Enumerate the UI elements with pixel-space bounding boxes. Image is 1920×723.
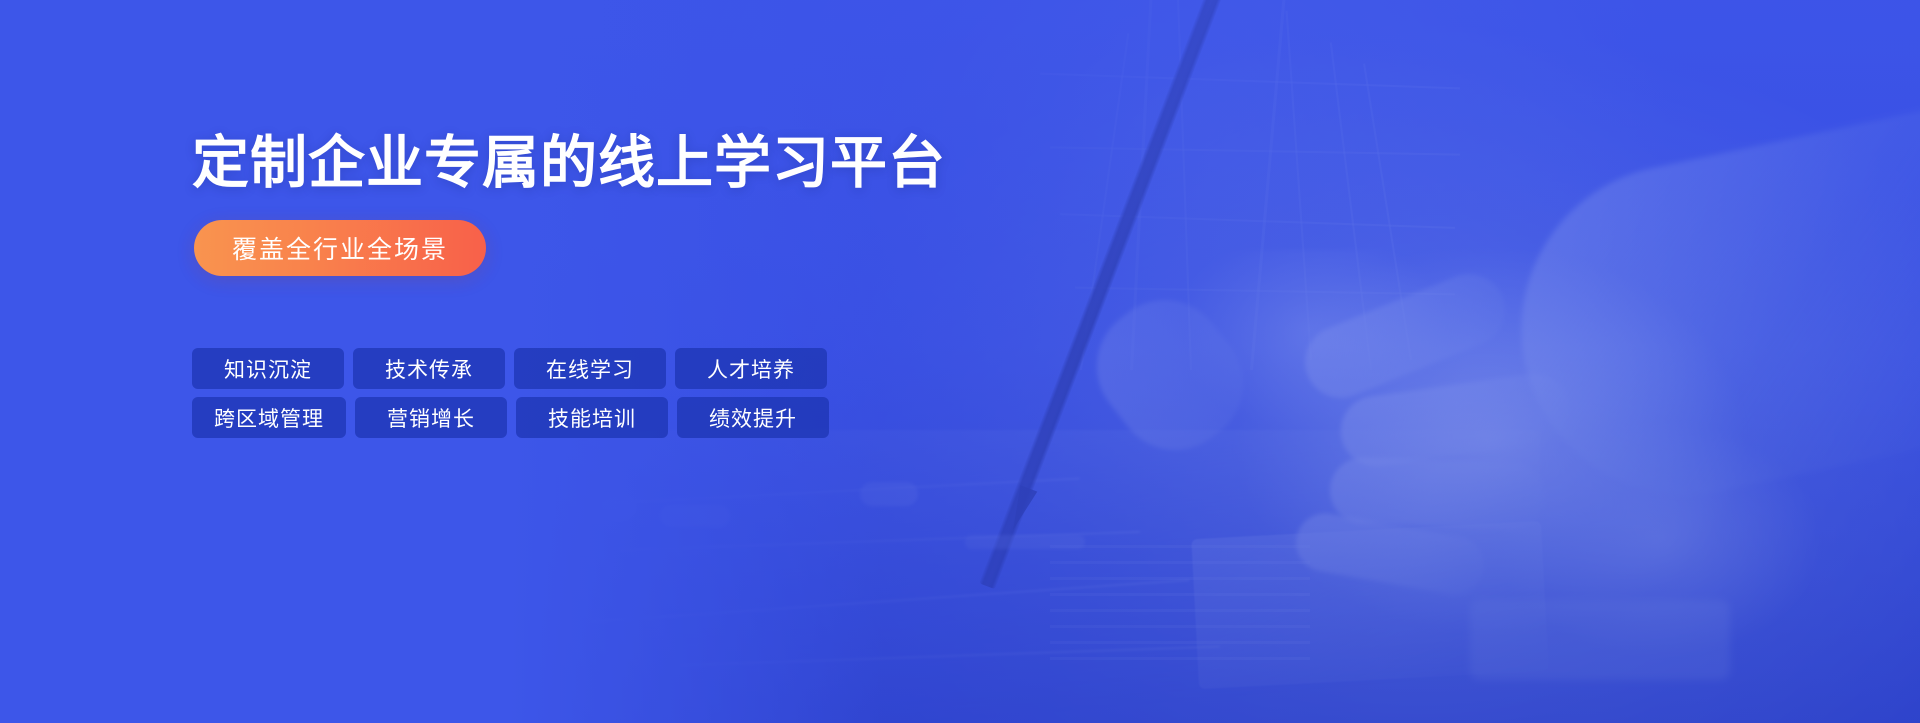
tag-row: 跨区域管理 营销增长 技能培训 绩效提升 [192, 397, 829, 438]
tag-grid: 知识沉淀 技术传承 在线学习 人才培养 跨区域管理 营销增长 技能培训 绩效提升 [192, 348, 829, 438]
tag-technology-inheritance[interactable]: 技术传承 [353, 348, 505, 389]
banner-headline: 定制企业专属的线上学习平台 [192, 131, 946, 197]
tag-online-learning[interactable]: 在线学习 [514, 348, 666, 389]
tag-row: 知识沉淀 技术传承 在线学习 人才培养 [192, 348, 829, 389]
tag-talent-development[interactable]: 人才培养 [675, 348, 827, 389]
tag-cross-region-management[interactable]: 跨区域管理 [192, 397, 346, 438]
tag-knowledge-precipitation[interactable]: 知识沉淀 [192, 348, 344, 389]
hero-banner: 定制企业专属的线上学习平台 覆盖全行业全场景 知识沉淀 技术传承 在线学习 人才… [0, 0, 1920, 723]
coverage-badge[interactable]: 覆盖全行业全场景 [194, 220, 486, 276]
tag-performance-improvement[interactable]: 绩效提升 [677, 397, 829, 438]
tag-marketing-growth[interactable]: 营销增长 [355, 397, 507, 438]
banner-content: 定制企业专属的线上学习平台 覆盖全行业全场景 知识沉淀 技术传承 在线学习 人才… [192, 0, 1092, 723]
tag-skills-training[interactable]: 技能培训 [516, 397, 668, 438]
